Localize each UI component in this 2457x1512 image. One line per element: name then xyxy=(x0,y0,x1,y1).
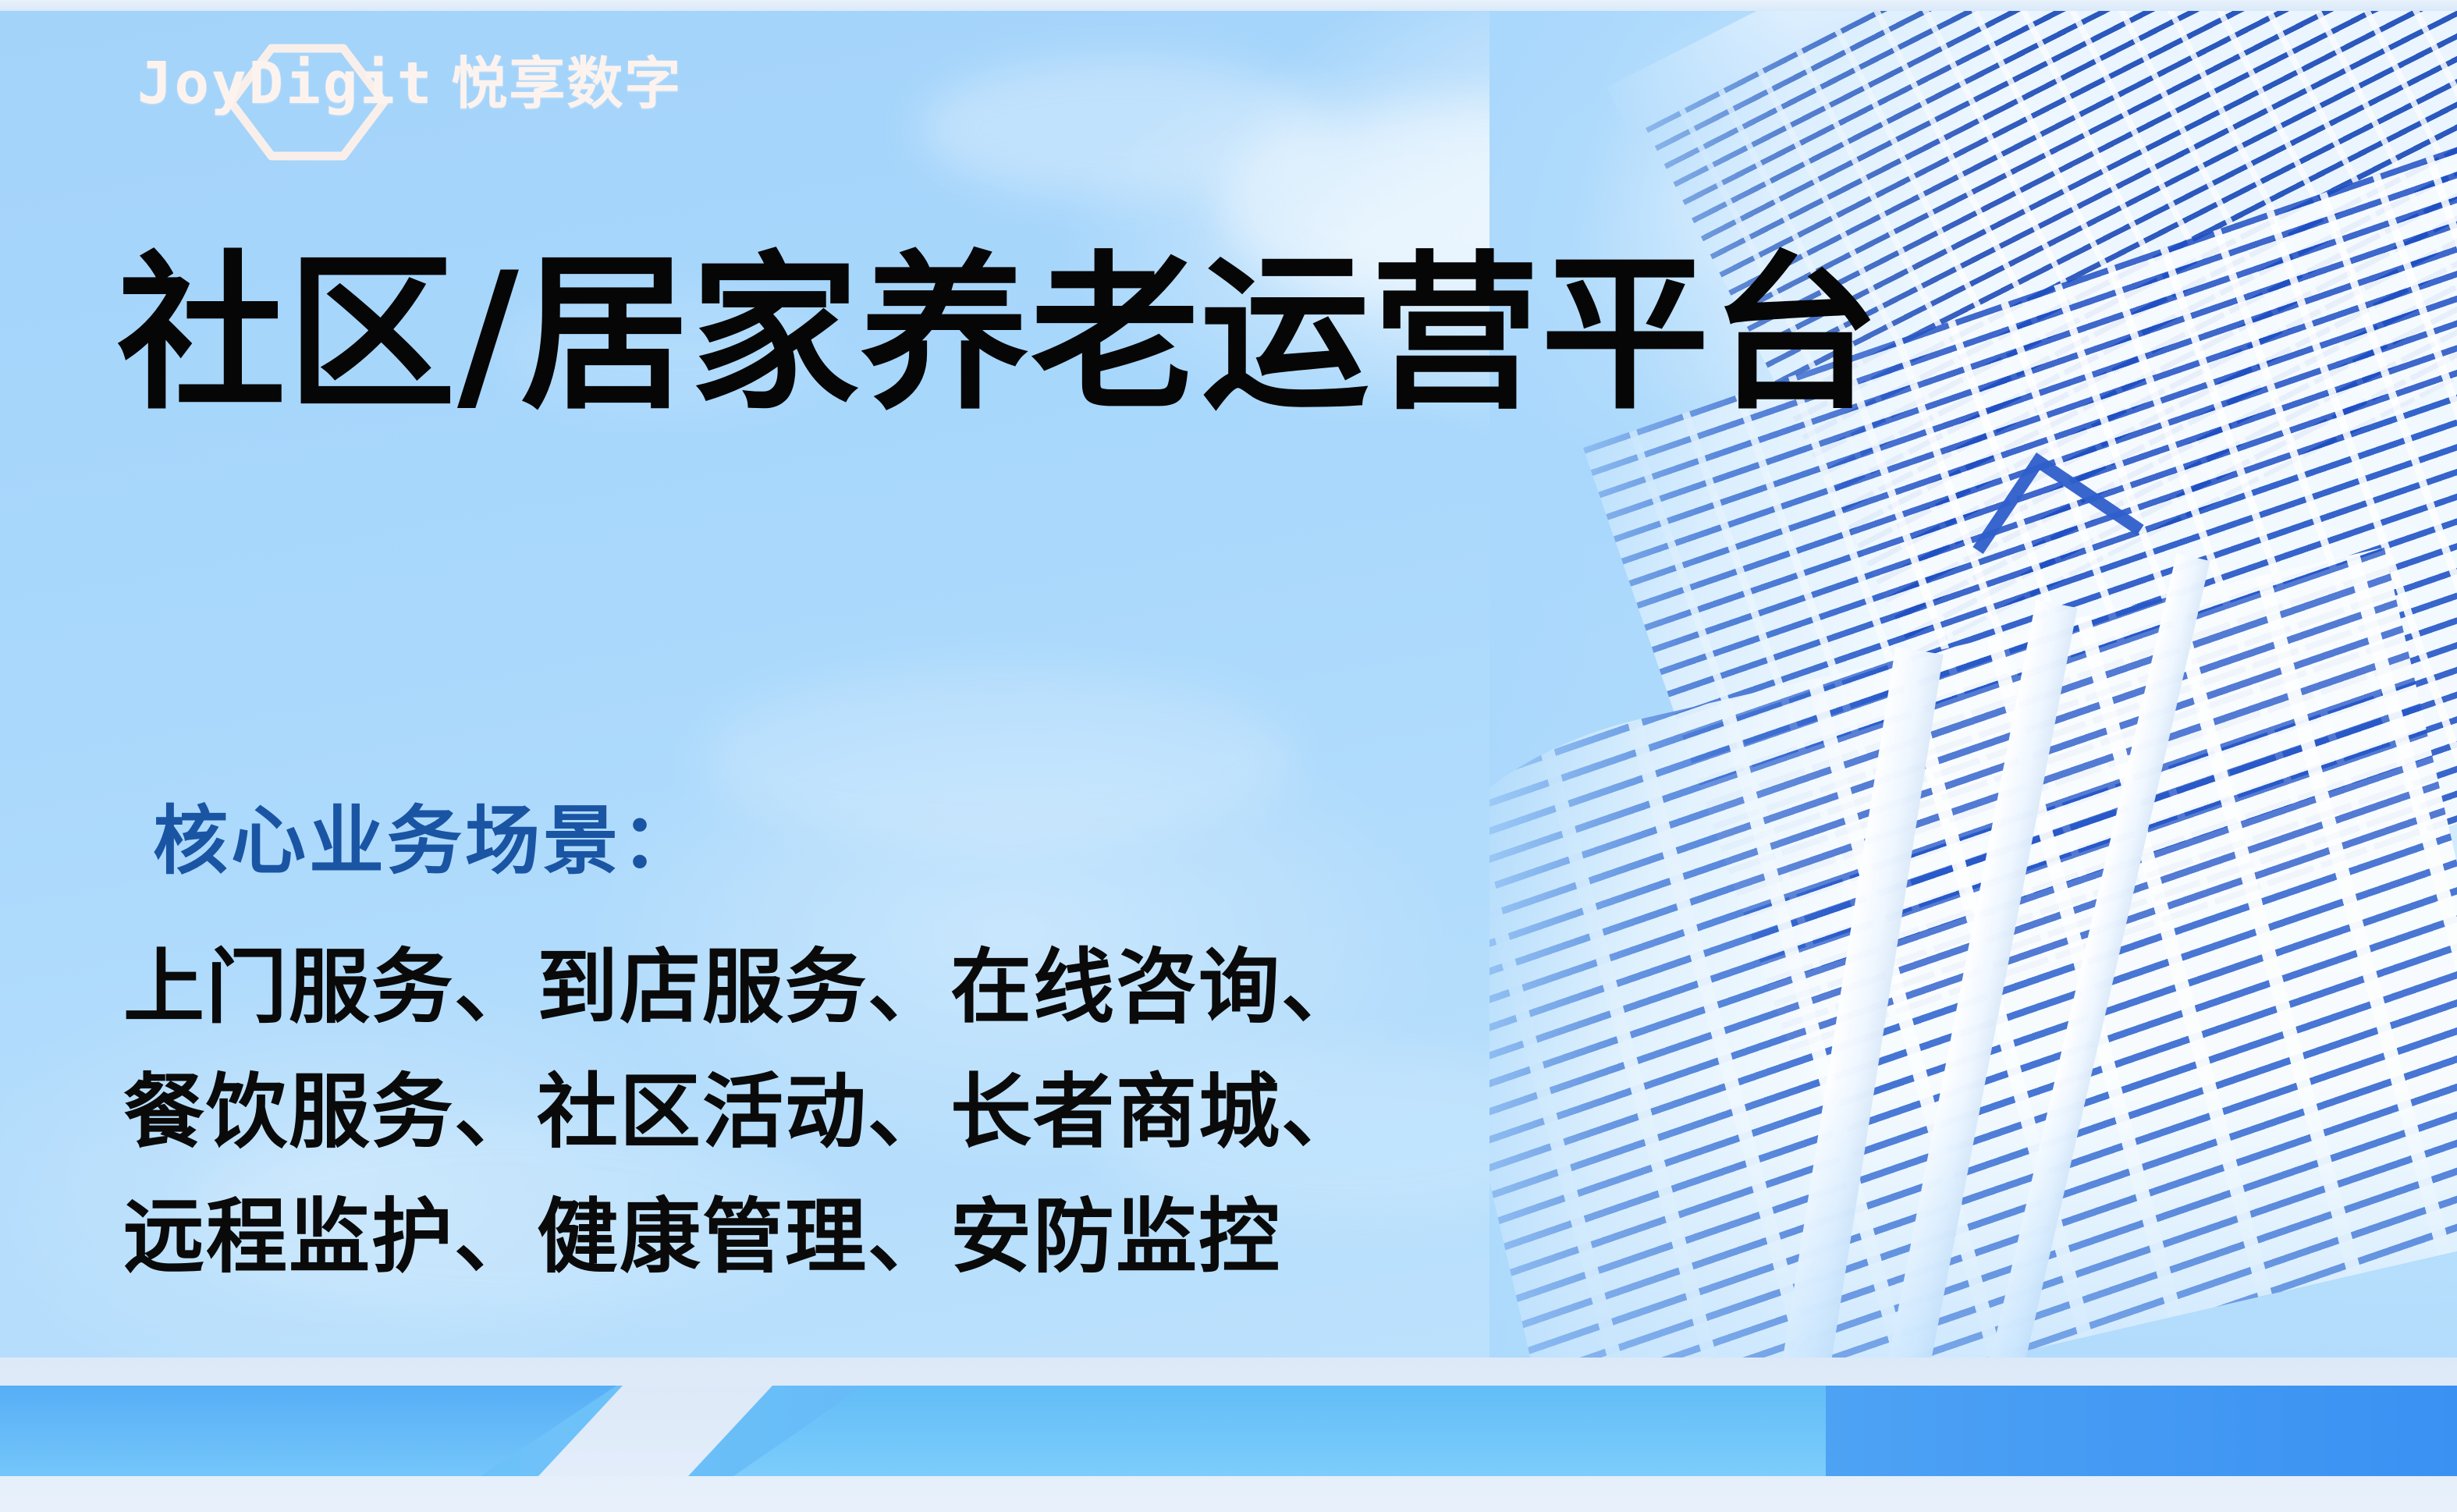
cloud-shape xyxy=(702,666,1295,846)
brand-logo: JoyDigit 悦享数字 xyxy=(137,44,730,161)
section-heading: 核心业务场景： xyxy=(153,780,699,889)
list-item: 上门服务、到店服务、在线咨询、 xyxy=(123,925,1364,1049)
photo-blend-haze-bottom xyxy=(1489,11,2457,1384)
business-scenario-list: 上门服务、到店服务、在线咨询、 餐饮服务、社区活动、长者商城、 远程监护、健康管… xyxy=(123,925,1364,1299)
slide-canvas: JoyDigit 悦享数字 社区/居家养老运营平台 核心业务场景： 上门服务、到… xyxy=(0,0,2457,1512)
list-item: 远程监护、健康管理、安防监控 xyxy=(123,1174,1364,1299)
band-right-parallelogram xyxy=(733,1386,1826,1476)
page-title: 社区/居家养老运营平台 xyxy=(117,242,1881,428)
list-item: 餐饮服务、社区活动、长者商城、 xyxy=(123,1049,1364,1174)
brand-logo-text: JoyDigit 悦享数字 xyxy=(137,55,682,112)
top-edge-strip xyxy=(0,0,2457,11)
brand-name-en: JoyDigit xyxy=(137,55,434,112)
brand-name-cn: 悦享数字 xyxy=(451,56,682,112)
skyscraper-photo xyxy=(1489,11,2457,1384)
bottom-decor-band xyxy=(0,1358,2457,1512)
